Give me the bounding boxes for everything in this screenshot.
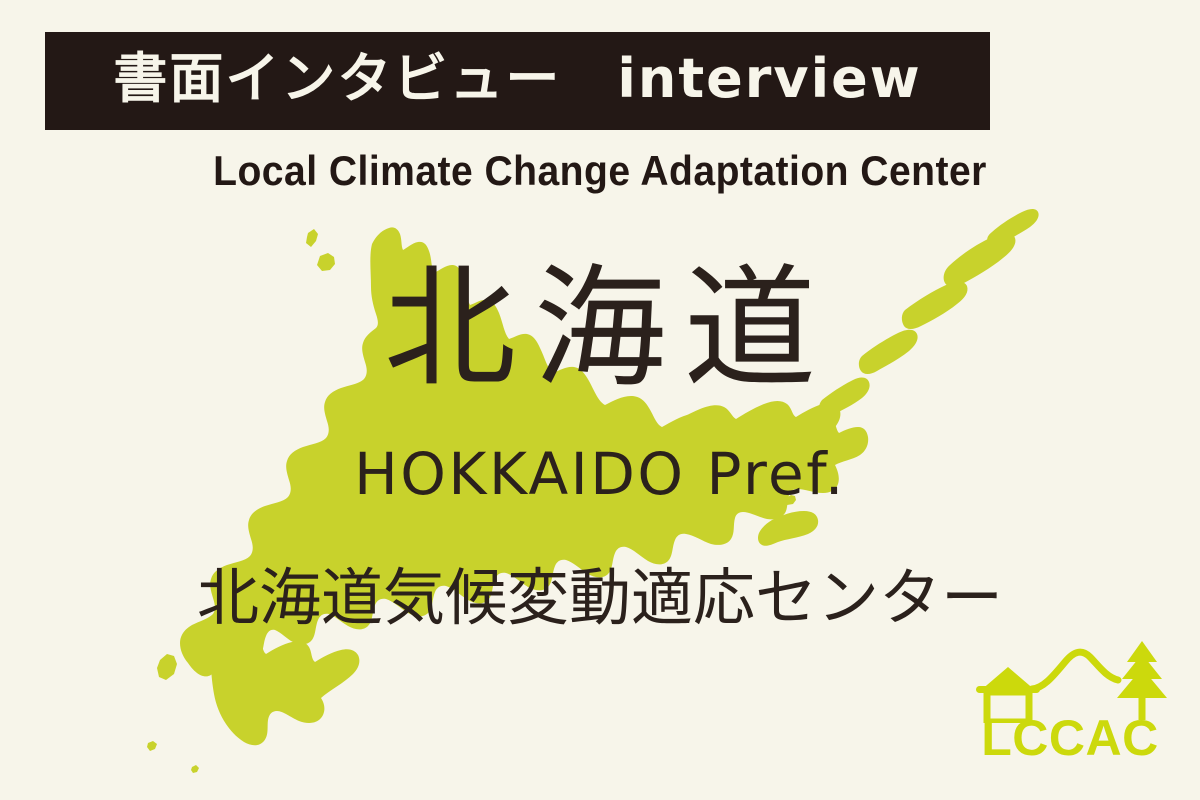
page-subtitle: Local Climate Change Adaptation Center — [42, 148, 1158, 194]
rebun-island — [306, 229, 318, 247]
islet-sw-1 — [147, 741, 157, 751]
center-name-jp: 北海道気候変動適応センター — [0, 562, 1200, 633]
islet-sw-2 — [191, 765, 199, 773]
interview-banner: 書面インタビュー interview — [45, 32, 990, 130]
mountain-icon — [1032, 652, 1118, 689]
lccac-logo: LCCAC — [970, 635, 1170, 775]
nemuro-peninsula — [758, 511, 818, 546]
interview-card: 書面インタビュー interview Local Climate Change … — [0, 0, 1200, 800]
pine-tree-icon — [1117, 641, 1167, 720]
prefecture-name-jp: 北海道 — [0, 252, 1200, 408]
lccac-wordmark: LCCAC — [970, 713, 1170, 763]
kuril-tip — [987, 209, 1038, 245]
banner-label: 書面インタビュー interview — [113, 52, 921, 106]
okushiri-island — [157, 654, 177, 680]
prefecture-name-en: HOKKAIDO Pref. — [0, 443, 1200, 507]
oshima-peninsula — [211, 635, 359, 746]
